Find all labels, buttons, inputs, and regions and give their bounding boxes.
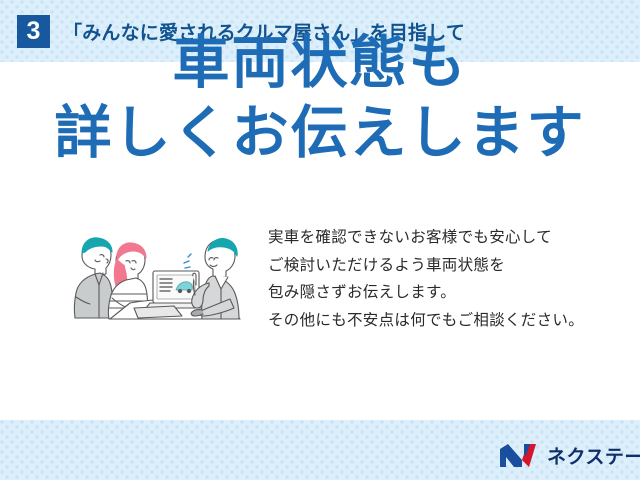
description-line: 実車を確認できないお客様でも安心して <box>268 224 584 252</box>
headline: 車両状態も 詳しくお伝えします <box>0 33 640 164</box>
nextage-n-logo-icon <box>498 442 540 469</box>
description-line: その他にも不安点は何でもご相談ください。 <box>268 307 584 335</box>
description-line: ご検討いただけるよう車両状態を <box>268 252 584 280</box>
description-text: 実車を確認できないお客様でも安心して ご検討いただけるよう車両状態を 包み隠さず… <box>268 224 584 334</box>
consultation-illustration <box>62 215 257 330</box>
promo-banner: 3 「みんなに愛されるクルマ屋さん」を目指して 車両状態も 詳しくお伝えします … <box>0 0 640 480</box>
headline-line-1: 車両状態も <box>0 33 640 95</box>
brand-logo: ネクステージ <box>498 440 640 470</box>
description-line: 包み隠さずお伝えします。 <box>268 279 584 307</box>
brand-name: ネクステージ <box>547 442 640 469</box>
headline-line-2: 詳しくお伝えします <box>0 103 640 165</box>
